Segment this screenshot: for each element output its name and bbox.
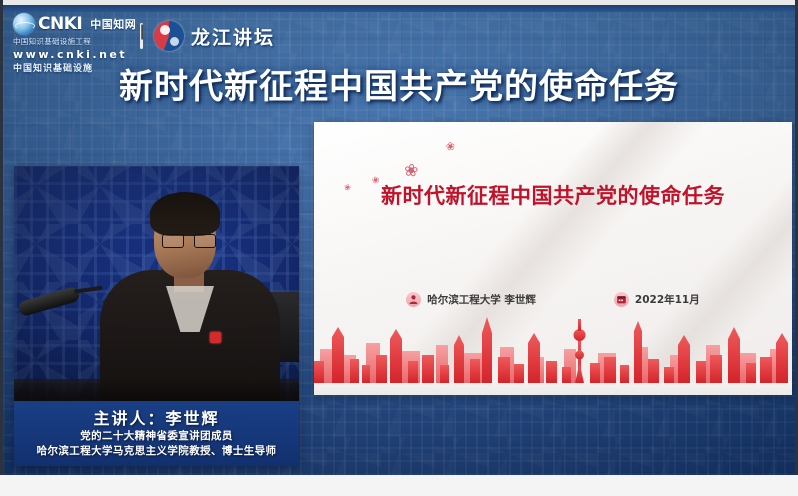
presenter-video-feed[interactable] [14, 166, 299, 401]
slide-meta-affiliation-text: 哈尔滨工程大学 李世辉 [427, 292, 536, 307]
longjiang-forum-logo: 龙江讲坛 [154, 21, 275, 51]
page-title: 新时代新征程中国共产党的使命任务 [3, 59, 795, 108]
logo-separator: | [140, 23, 143, 49]
longjiang-forum-logo-icon [154, 21, 184, 51]
capture-bottom-letterbox [0, 475, 798, 496]
cnki-subtitle: 中国知识基础设施工程 [13, 36, 129, 47]
presenter-credential-2: 哈尔滨工程大学马克思主义学院教授、博士生导师 [14, 444, 299, 459]
cnki-logo-row: CNKI 中国知网 [13, 13, 129, 35]
presenter-name: 主讲人：李世辉 [14, 405, 299, 429]
presenter-video-panel[interactable]: 主讲人：李世辉 党的二十大精神省委宣讲团成员 哈尔滨工程大学马克思主义学院教授、… [14, 166, 299, 466]
slide-meta-date-text: 2022年11月 [635, 292, 700, 307]
person-icon [406, 292, 421, 307]
speaker-hair [150, 192, 220, 236]
longjiang-forum-name: 龙江讲坛 [191, 23, 275, 50]
logo-bar: CNKI 中国知网 中国知识基础设施工程 www.cnki.net 中国知识基础… [13, 13, 275, 59]
globe-icon [13, 13, 35, 35]
speaker-desk [14, 379, 299, 401]
stage-top-strip [3, 5, 795, 12]
slide-meta-affiliation: 哈尔滨工程大学 李世辉 [406, 292, 536, 307]
cnki-wordmark: CNKI [38, 14, 82, 34]
presenter-credential-1: 党的二十大精神省委宣讲团成员 [14, 429, 299, 444]
broadcast-stage: CNKI 中国知网 中国知识基础设施工程 www.cnki.net 中国知识基础… [3, 5, 795, 475]
slide-bottom-band [314, 383, 792, 395]
party-emblem-badge-icon [210, 332, 221, 343]
slide-meta-date: 2022年11月 [614, 292, 700, 307]
calendar-icon [614, 292, 629, 307]
slide-title: 新时代新征程中国共产党的使命任务 [314, 180, 792, 210]
city-skyline-graphic [314, 309, 792, 383]
slide-metadata-row: 哈尔滨工程大学 李世辉 2022年11月 [314, 292, 792, 307]
cnki-chinese-name: 中国知网 [90, 16, 136, 32]
glasses-icon [162, 234, 216, 247]
presenter-caption: 主讲人：李世辉 党的二十大精神省委宣讲团成员 哈尔滨工程大学马克思主义学院教授、… [14, 401, 299, 466]
cnki-logo: CNKI 中国知网 中国知识基础设施工程 www.cnki.net 中国知识基础… [13, 13, 129, 59]
capture-top-border [0, 0, 798, 5]
presentation-slide[interactable]: ❀ ❀ ❀ ❀ 新时代新征程中国共产党的使命任务 哈尔滨工程大学 李世辉 [314, 122, 792, 395]
screenshot-root: CNKI 中国知网 中国知识基础设施工程 www.cnki.net 中国知识基础… [0, 0, 798, 496]
